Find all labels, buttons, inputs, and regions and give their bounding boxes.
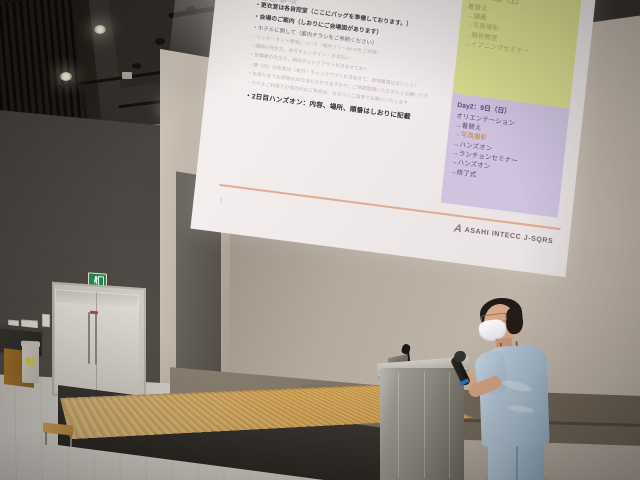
presenter (462, 296, 578, 480)
lecture-hall-photo: 注意事項 ・更衣室は各自控室（ここにバッグを準備しております。） ・会場のご案内… (0, 0, 640, 480)
stage-step-leg-left (45, 432, 47, 445)
door-handle-left[interactable] (88, 312, 90, 364)
projection-screen: 注意事項 ・更衣室は各自控室（ここにバッグを準備しております。） ・会場のご案内… (190, 0, 596, 277)
asahi-intecc-logo-icon: A (452, 224, 464, 236)
slide-content: 注意事項 ・更衣室は各自控室（ここにバッグを準備しております。） ・会場のご案内… (216, 0, 583, 256)
day2-panel: Day2：9日（日） オリエンテーション →着替え →写真撮影 →ハンズオン →… (441, 93, 570, 218)
podium-seam-3 (449, 372, 450, 478)
slide-footer-logo-text: ASAHI INTECC J-SQRS (464, 227, 553, 245)
door-handle-accent (90, 311, 98, 315)
podium-seam-1 (398, 372, 399, 478)
day1-panel: Day1：8日（土） 着替え →講義 →写真撮影 →解剖教室 →イブニングセミナ… (453, 0, 582, 108)
podium (380, 368, 464, 480)
door-handle-right[interactable] (95, 313, 97, 365)
ceiling-speaker-2 (155, 38, 165, 45)
slide-page-number: 1 (219, 198, 223, 204)
wall-control-panel[interactable] (42, 314, 50, 328)
ceiling-speaker-3 (132, 63, 141, 69)
trash-bin-label (26, 358, 35, 365)
presenter-leg-seam (516, 446, 518, 480)
podium-seam-2 (424, 372, 425, 478)
ceiling-sensor (122, 72, 132, 79)
ceiling-speaker-1 (186, 6, 196, 13)
stage-step-leg-right (70, 434, 72, 447)
downlight-2 (60, 72, 72, 81)
slide-body: ・更衣室は各自控室（ここにバッグを準備しております。） ・会場のご案内（しおりに… (244, 0, 468, 130)
downlight-1 (94, 25, 106, 34)
